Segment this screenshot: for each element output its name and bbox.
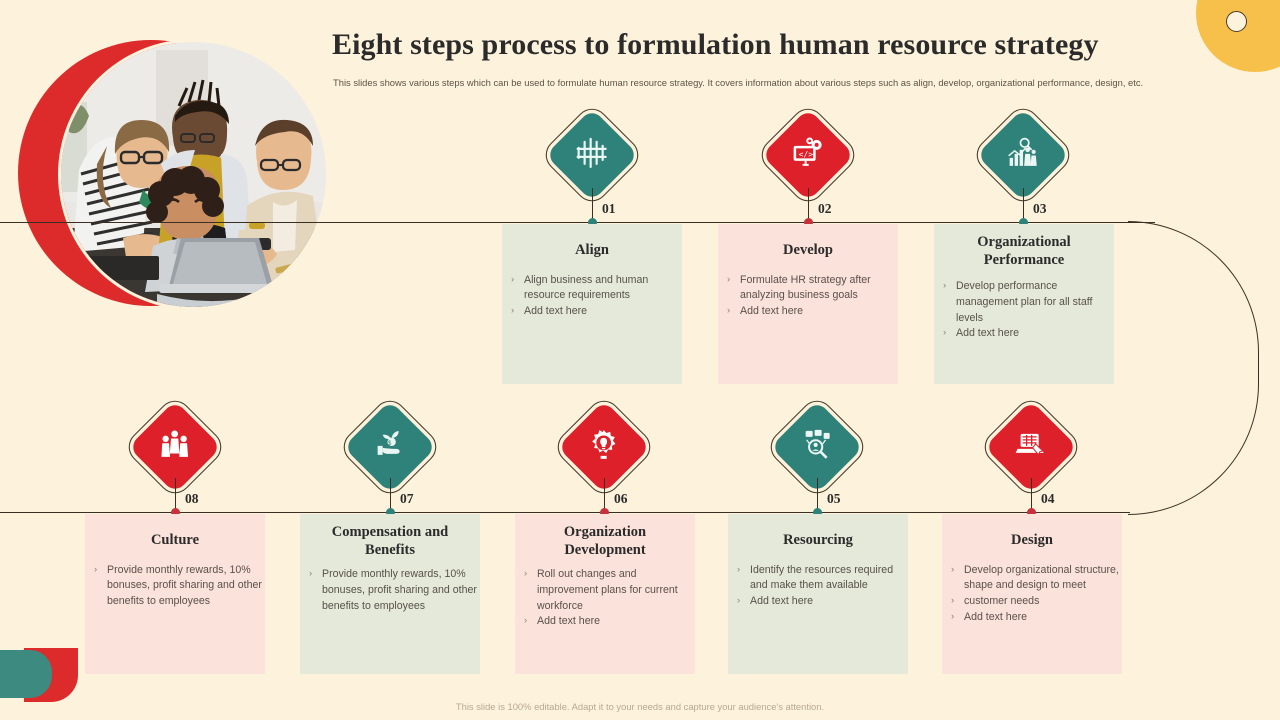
hand-money-plant-icon: $ <box>373 428 407 467</box>
chevron-right-icon: › <box>943 326 946 340</box>
list-item: ›Add text here <box>728 594 908 610</box>
step-card-04[interactable]: Design ›Develop organizational structure… <box>942 514 1122 674</box>
list-item: ›Identify the resources required and mak… <box>728 563 908 594</box>
monitor-code-gears-icon: </> <box>791 136 825 175</box>
chevron-right-icon: › <box>511 304 514 318</box>
avatar <box>61 42 326 307</box>
step-stem-06 <box>604 478 605 512</box>
list-item: ›customer needs <box>942 594 1122 610</box>
page-subtitle: This slides shows various steps which ca… <box>333 76 1238 90</box>
step-stem-01 <box>592 188 593 222</box>
chevron-right-icon: › <box>951 563 954 577</box>
chevron-right-icon: › <box>951 610 954 624</box>
chevron-right-icon: › <box>511 273 514 287</box>
list-item: ›Align business and human resource requi… <box>502 273 682 304</box>
step-title-06: Organization Development <box>515 524 695 559</box>
gear-brain-idea-icon <box>587 428 621 467</box>
list-item: ›Provide monthly rewards, 10% bonuses, p… <box>300 567 480 614</box>
timeline-rail-bottom <box>0 512 1130 513</box>
step-number-06: 06 <box>614 491 628 507</box>
step-card-06[interactable]: Organization Development ›Roll out chang… <box>515 514 695 674</box>
step-title-08: Culture <box>85 532 265 550</box>
step-card-05[interactable]: Resourcing ›Identify the resources requi… <box>728 514 908 674</box>
step-number-07: 07 <box>400 491 414 507</box>
growth-bar-chart-people-icon <box>1006 136 1040 175</box>
step-stem-03 <box>1023 188 1024 222</box>
page-title: Eight steps process to formulation human… <box>332 28 1232 61</box>
laptop-design-icon <box>1014 428 1048 467</box>
step-title-02: Develop <box>718 242 898 260</box>
step-card-01[interactable]: Align ›Align business and human resource… <box>502 224 682 384</box>
step-number-01: 01 <box>602 201 616 217</box>
step-card-07[interactable]: Compensation and Benefits ›Provide month… <box>300 514 480 674</box>
list-item: ›Add text here <box>515 614 695 630</box>
svg-text:</>: </> <box>799 150 814 159</box>
list-item: ›Add text here <box>718 304 898 320</box>
list-item: ›Add text here <box>942 610 1122 626</box>
chevron-right-icon: › <box>524 567 527 581</box>
chevron-right-icon: › <box>951 594 954 608</box>
list-item: ›Develop performance management plan for… <box>934 279 1114 326</box>
chevron-right-icon: › <box>727 304 730 318</box>
chevron-right-icon: › <box>309 567 312 581</box>
step-card-02[interactable]: Develop ›Formulate HR strategy after ana… <box>718 224 898 384</box>
list-item: ›Formulate HR strategy after analyzing b… <box>718 273 898 304</box>
list-item: ›Add text here <box>502 304 682 320</box>
timeline-connector-curve <box>1128 221 1259 515</box>
list-item: ›Provide monthly rewards, 10% bonuses, p… <box>85 563 265 610</box>
step-stem-04 <box>1031 478 1032 512</box>
chevron-right-icon: › <box>737 594 740 608</box>
chevron-right-icon: › <box>94 563 97 577</box>
step-title-03: Organizational Performance <box>934 234 1114 269</box>
group-people-icon <box>158 428 192 467</box>
candidate-search-icon <box>800 428 834 467</box>
tally-chart-icon <box>575 136 609 175</box>
chevron-right-icon: › <box>737 563 740 577</box>
list-item: ›Develop organizational structure, shape… <box>942 563 1122 594</box>
step-number-03: 03 <box>1033 201 1047 217</box>
step-stem-02 <box>808 188 809 222</box>
step-title-04: Design <box>942 532 1122 550</box>
step-stem-05 <box>817 478 818 512</box>
list-item: ›Add text here <box>934 326 1114 342</box>
step-number-04: 04 <box>1041 491 1055 507</box>
bottom-left-teal-shape <box>0 650 52 698</box>
list-item: ›Roll out changes and improvement plans … <box>515 567 695 614</box>
step-number-08: 08 <box>185 491 199 507</box>
step-number-05: 05 <box>827 491 841 507</box>
step-stem-07 <box>390 478 391 512</box>
step-card-08[interactable]: Culture ›Provide monthly rewards, 10% bo… <box>85 514 265 674</box>
slide-canvas: Eight steps process to formulation human… <box>0 0 1280 720</box>
step-card-03[interactable]: Organizational Performance ›Develop perf… <box>934 224 1114 384</box>
hero-image-block <box>18 40 328 380</box>
step-title-01: Align <box>502 242 682 260</box>
chevron-right-icon: › <box>524 614 527 628</box>
chevron-right-icon: › <box>943 279 946 293</box>
step-title-05: Resourcing <box>728 532 908 550</box>
step-stem-08 <box>175 478 176 512</box>
step-number-02: 02 <box>818 201 832 217</box>
chevron-right-icon: › <box>727 273 730 287</box>
footer-note: This slide is 100% editable. Adapt it to… <box>0 701 1280 712</box>
timeline-rail-top <box>0 222 1155 223</box>
step-title-07: Compensation and Benefits <box>300 524 480 559</box>
